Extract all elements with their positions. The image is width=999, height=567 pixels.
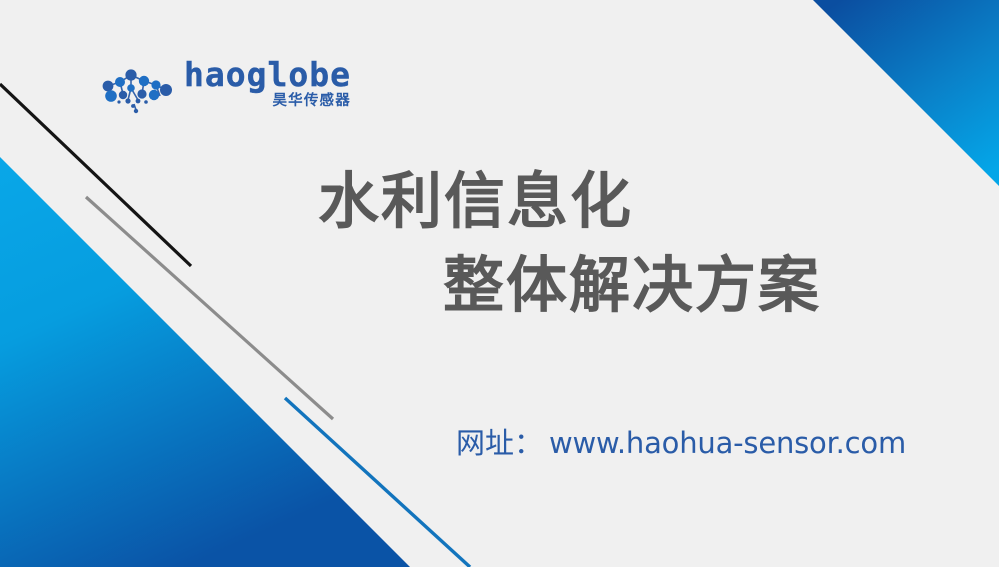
website-label: 网址： <box>456 420 543 462</box>
haoglobe-network-dots-icon <box>98 64 176 116</box>
right-blue-triangle <box>813 0 999 186</box>
logo-text-block: haoglobe 昊华传感器 <box>184 58 351 109</box>
title-line-2: 整体解决方案 <box>0 244 999 328</box>
presentation-slide: haoglobe 昊华传感器 水利信息化 整体解决方案 网址： www.haoh… <box>0 0 999 567</box>
logo-subtitle: 昊华传感器 <box>272 94 351 109</box>
blue-diagonal-line <box>285 398 470 567</box>
website-url[interactable]: www.haohua-sensor.com <box>549 426 906 460</box>
company-logo: haoglobe 昊华传感器 <box>98 58 351 116</box>
logo-wordmark: haoglobe <box>184 58 351 91</box>
slide-title: 水利信息化 整体解决方案 <box>0 160 999 328</box>
website-line: 网址： www.haohua-sensor.com <box>456 420 906 462</box>
title-line-1: 水利信息化 <box>0 160 999 244</box>
